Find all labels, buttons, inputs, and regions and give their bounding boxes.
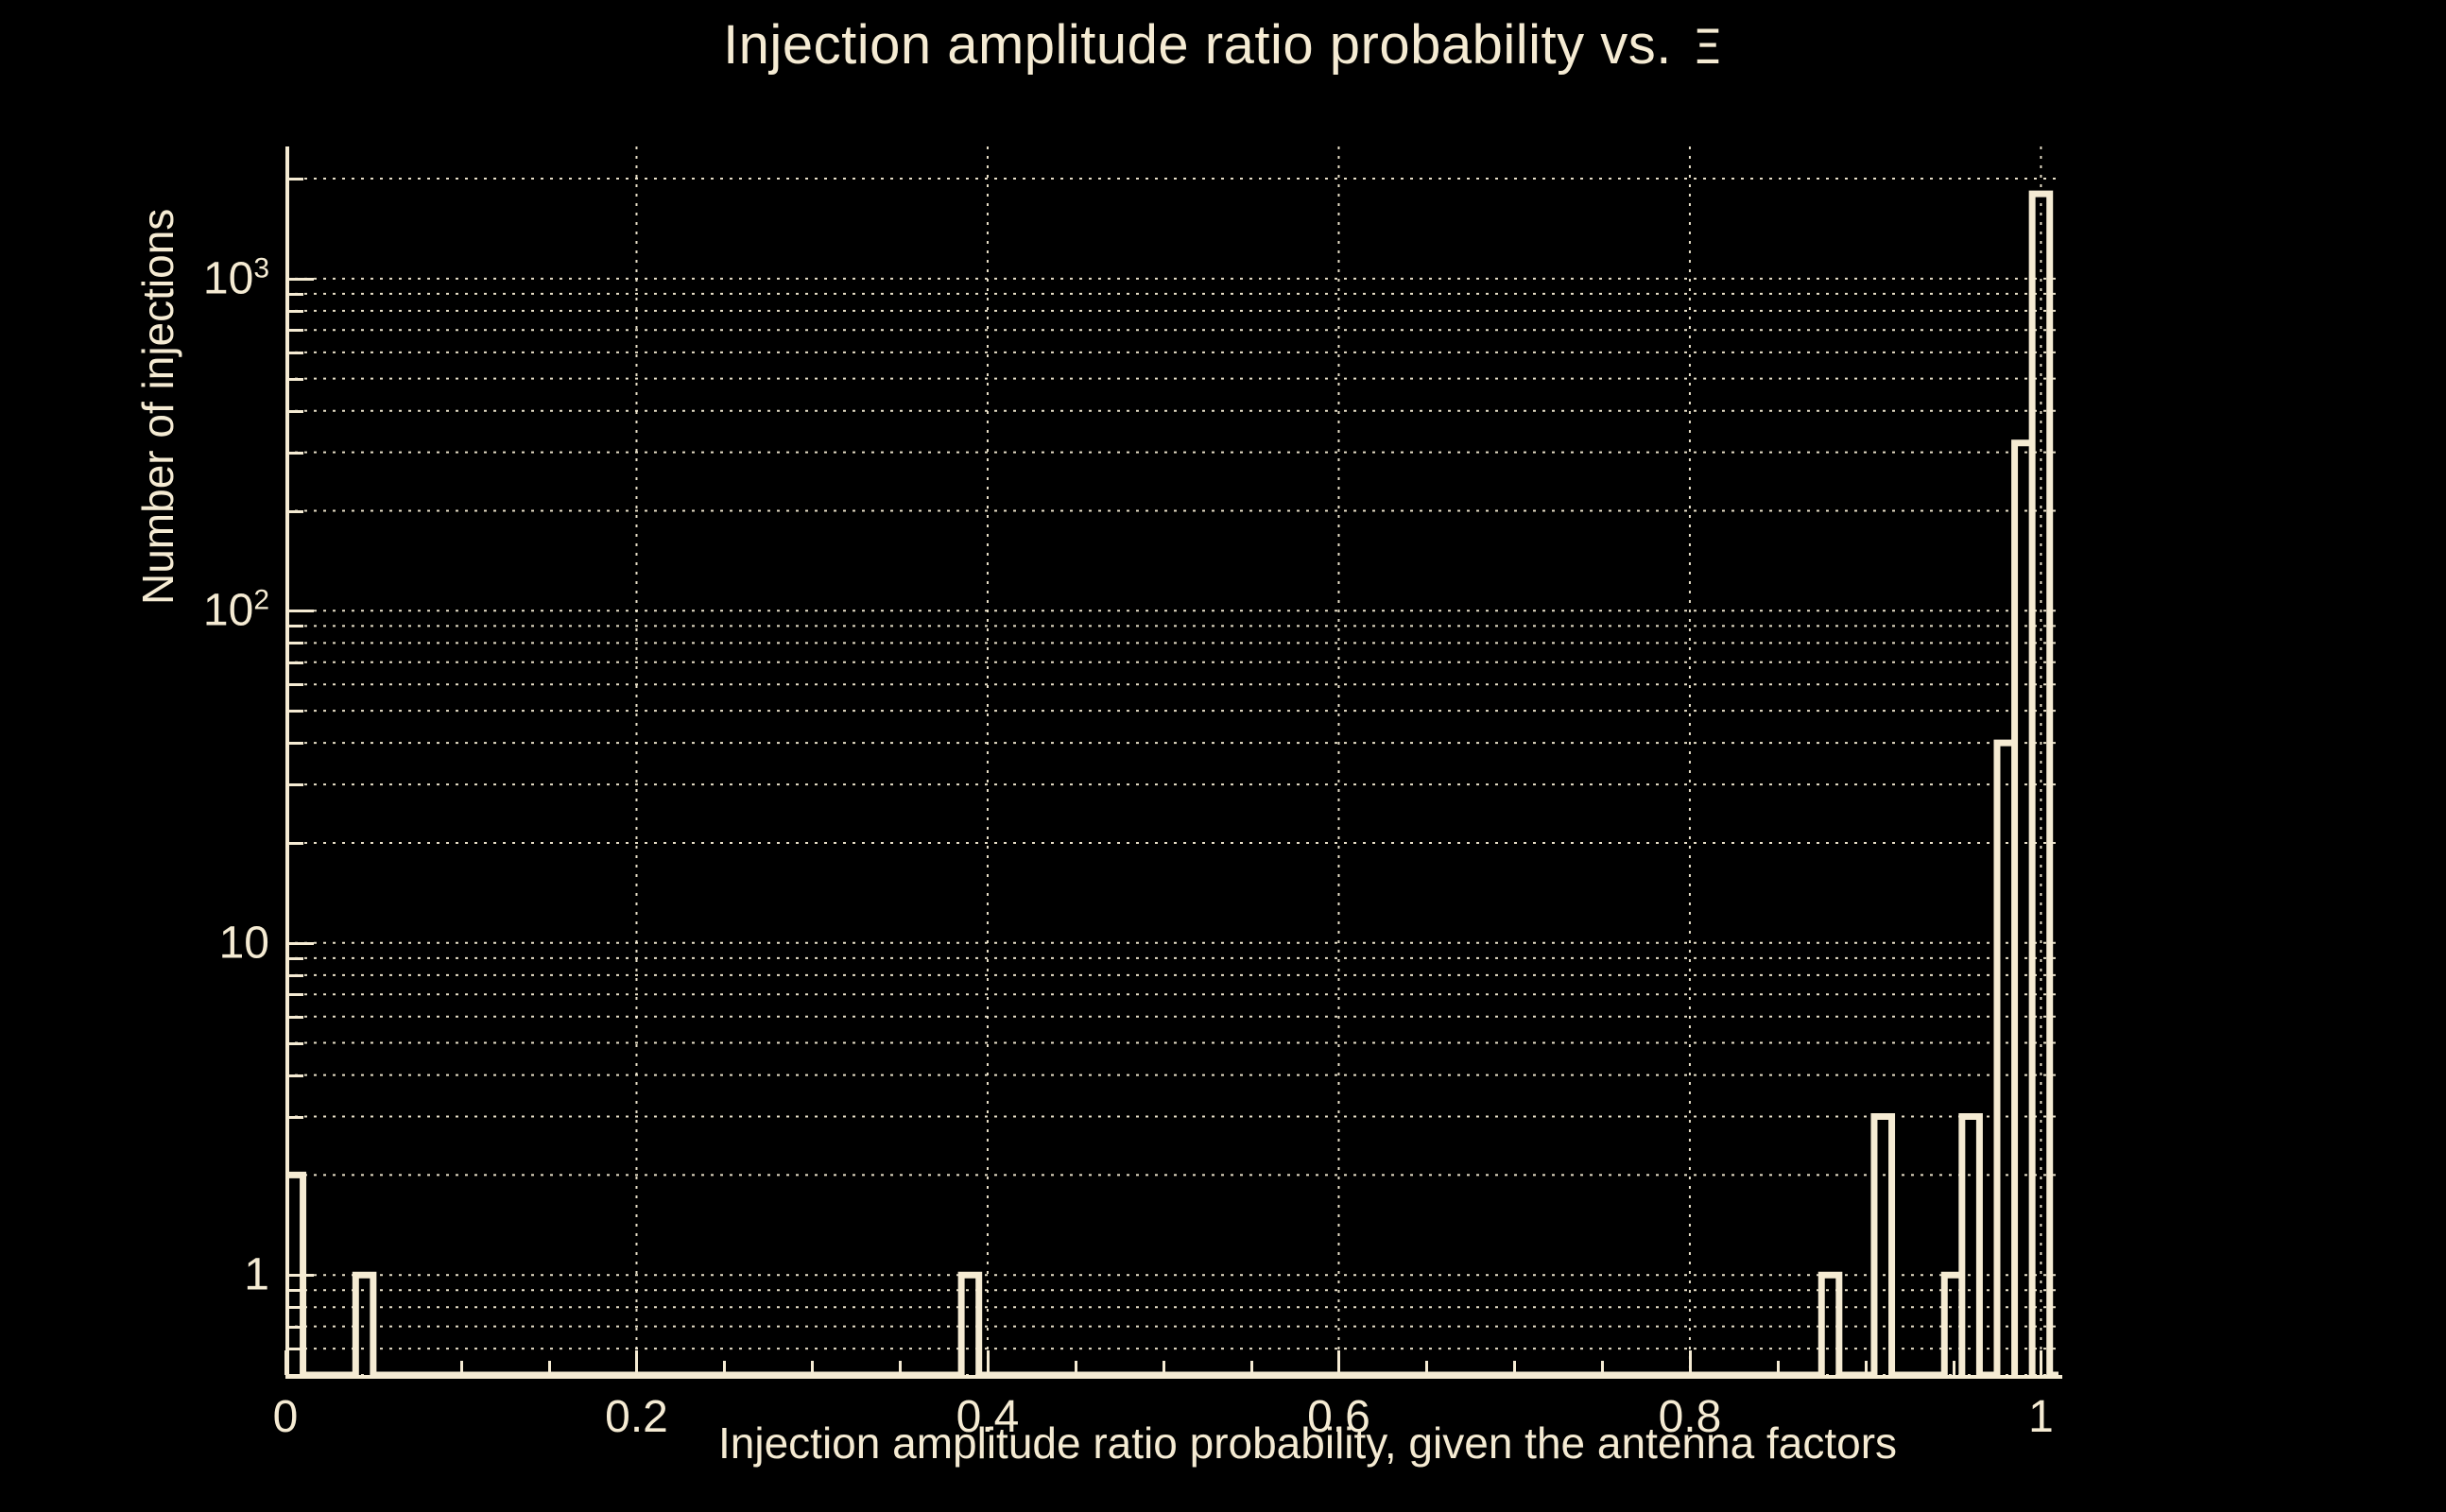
tick-mark: [899, 1361, 902, 1375]
tick-mark: [289, 178, 303, 180]
gridlines: [285, 146, 2058, 1375]
tick-mark: [811, 1361, 814, 1375]
tick-mark: [289, 783, 303, 786]
tick-mark: [1777, 1361, 1780, 1375]
tick-mark: [289, 1274, 314, 1277]
tick-mark: [289, 410, 303, 413]
tick-mark: [1250, 1361, 1253, 1375]
tick-mark: [289, 942, 314, 945]
tick-mark: [1601, 1361, 1604, 1375]
tick-mark: [1163, 1361, 1165, 1375]
tick-mark: [289, 710, 303, 713]
tick-mark: [1075, 1361, 1077, 1375]
tick-mark: [284, 1350, 287, 1375]
tick-mark: [289, 957, 303, 960]
tick-mark: [289, 1326, 303, 1329]
y-tick-label: 1: [113, 1249, 269, 1301]
tick-mark: [289, 842, 303, 845]
tick-mark: [289, 329, 303, 332]
tick-mark: [289, 683, 303, 686]
tick-mark: [289, 293, 303, 296]
tick-mark: [289, 452, 303, 455]
figure-canvas: Injection amplitude ratio probability vs…: [0, 0, 2446, 1512]
tick-mark: [289, 310, 303, 313]
tick-mark: [289, 1016, 303, 1019]
tick-mark: [1513, 1361, 1516, 1375]
tick-mark: [289, 625, 303, 627]
tick-mark: [289, 642, 303, 644]
tick-mark: [1689, 1350, 1692, 1375]
tick-mark: [289, 1174, 303, 1177]
tick-mark: [289, 352, 303, 354]
x-tick-label: 0: [273, 1391, 299, 1443]
tick-mark: [289, 1374, 303, 1377]
tick-mark: [289, 993, 303, 996]
tick-mark: [1953, 1361, 1955, 1375]
tick-mark: [289, 1306, 303, 1309]
x-tick-label: 0.2: [605, 1391, 668, 1443]
tick-mark: [1865, 1361, 1868, 1375]
tick-mark: [289, 974, 303, 977]
chart-title-text: Injection amplitude ratio probability vs…: [723, 14, 1672, 76]
tick-mark: [289, 278, 314, 281]
tick-mark: [289, 1042, 303, 1045]
tick-mark: [289, 510, 303, 513]
tick-mark: [289, 610, 314, 612]
tick-mark: [289, 661, 303, 664]
x-tick-label: 0.8: [1659, 1391, 1722, 1443]
tick-mark: [289, 1116, 303, 1119]
tick-mark: [289, 742, 303, 745]
tick-mark: [289, 1289, 303, 1292]
tick-mark: [635, 1350, 638, 1375]
tick-mark: [289, 378, 303, 381]
plot-area: [285, 146, 2058, 1380]
y-tick-label: 102: [113, 585, 269, 637]
tick-mark: [460, 1361, 463, 1375]
tick-mark: [2040, 1350, 2042, 1375]
y-tick-label: 103: [113, 252, 269, 304]
xi-symbol: Ξ: [1672, 20, 1723, 75]
chart-title: Injection amplitude ratio probability vs…: [0, 13, 2446, 77]
histogram-svg: [285, 146, 2058, 1375]
tick-mark: [548, 1361, 551, 1375]
y-tick-label: 10: [113, 917, 269, 969]
tick-mark: [987, 1350, 990, 1375]
x-tick-label: 0.6: [1307, 1391, 1370, 1443]
tick-mark: [723, 1361, 726, 1375]
tick-mark: [1425, 1361, 1428, 1375]
x-tick-label: 0.4: [956, 1391, 1020, 1443]
tick-mark: [372, 1361, 375, 1375]
tick-mark: [1337, 1350, 1340, 1375]
tick-mark: [289, 1074, 303, 1077]
tick-mark: [289, 1348, 303, 1350]
x-tick-label: 1: [2028, 1391, 2054, 1443]
